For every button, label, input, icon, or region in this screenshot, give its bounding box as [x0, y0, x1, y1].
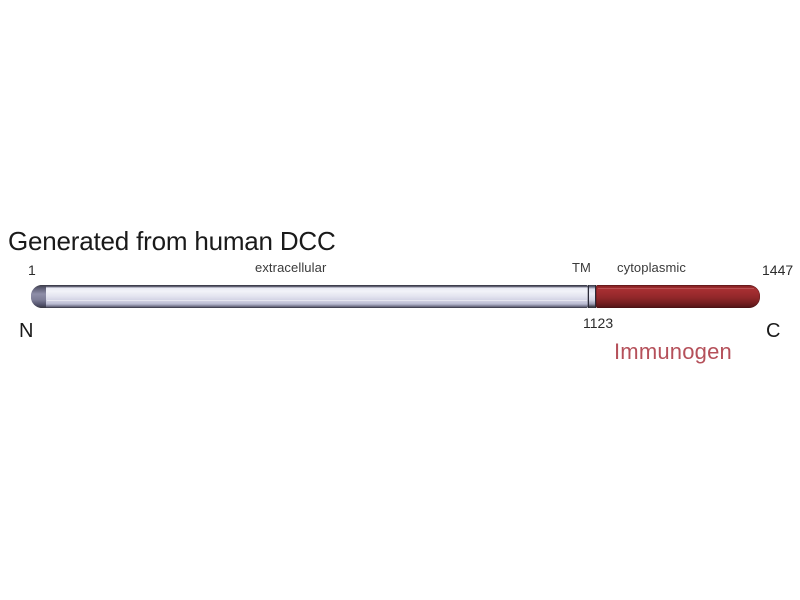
bar-n-terminal-cap: [31, 285, 46, 308]
bar-highlight-line: [47, 300, 587, 301]
residue-number-start: 1: [28, 262, 36, 278]
bar-segment-cytoplasmic: [596, 285, 760, 308]
n-terminus-label: N: [19, 320, 33, 343]
bar-segment-transmembrane: [588, 285, 596, 308]
immunogen-annotation: Immunogen: [614, 339, 732, 365]
bar-segment-extracellular: [31, 285, 588, 308]
protein-bar: [31, 285, 760, 308]
residue-number-tm-boundary: 1123: [583, 315, 613, 331]
residue-number-end: 1447: [762, 262, 793, 278]
c-terminus-label: C: [766, 320, 780, 343]
protein-domain-diagram: Generated from human DCC extracellular T…: [0, 0, 800, 600]
region-label-extracellular: extracellular: [255, 260, 326, 275]
page-title: Generated from human DCC: [8, 226, 336, 257]
region-label-cytoplasmic: cytoplasmic: [617, 260, 686, 275]
region-label-transmembrane: TM: [572, 260, 591, 275]
bar-highlight-line-cytoplasmic: [598, 288, 754, 289]
